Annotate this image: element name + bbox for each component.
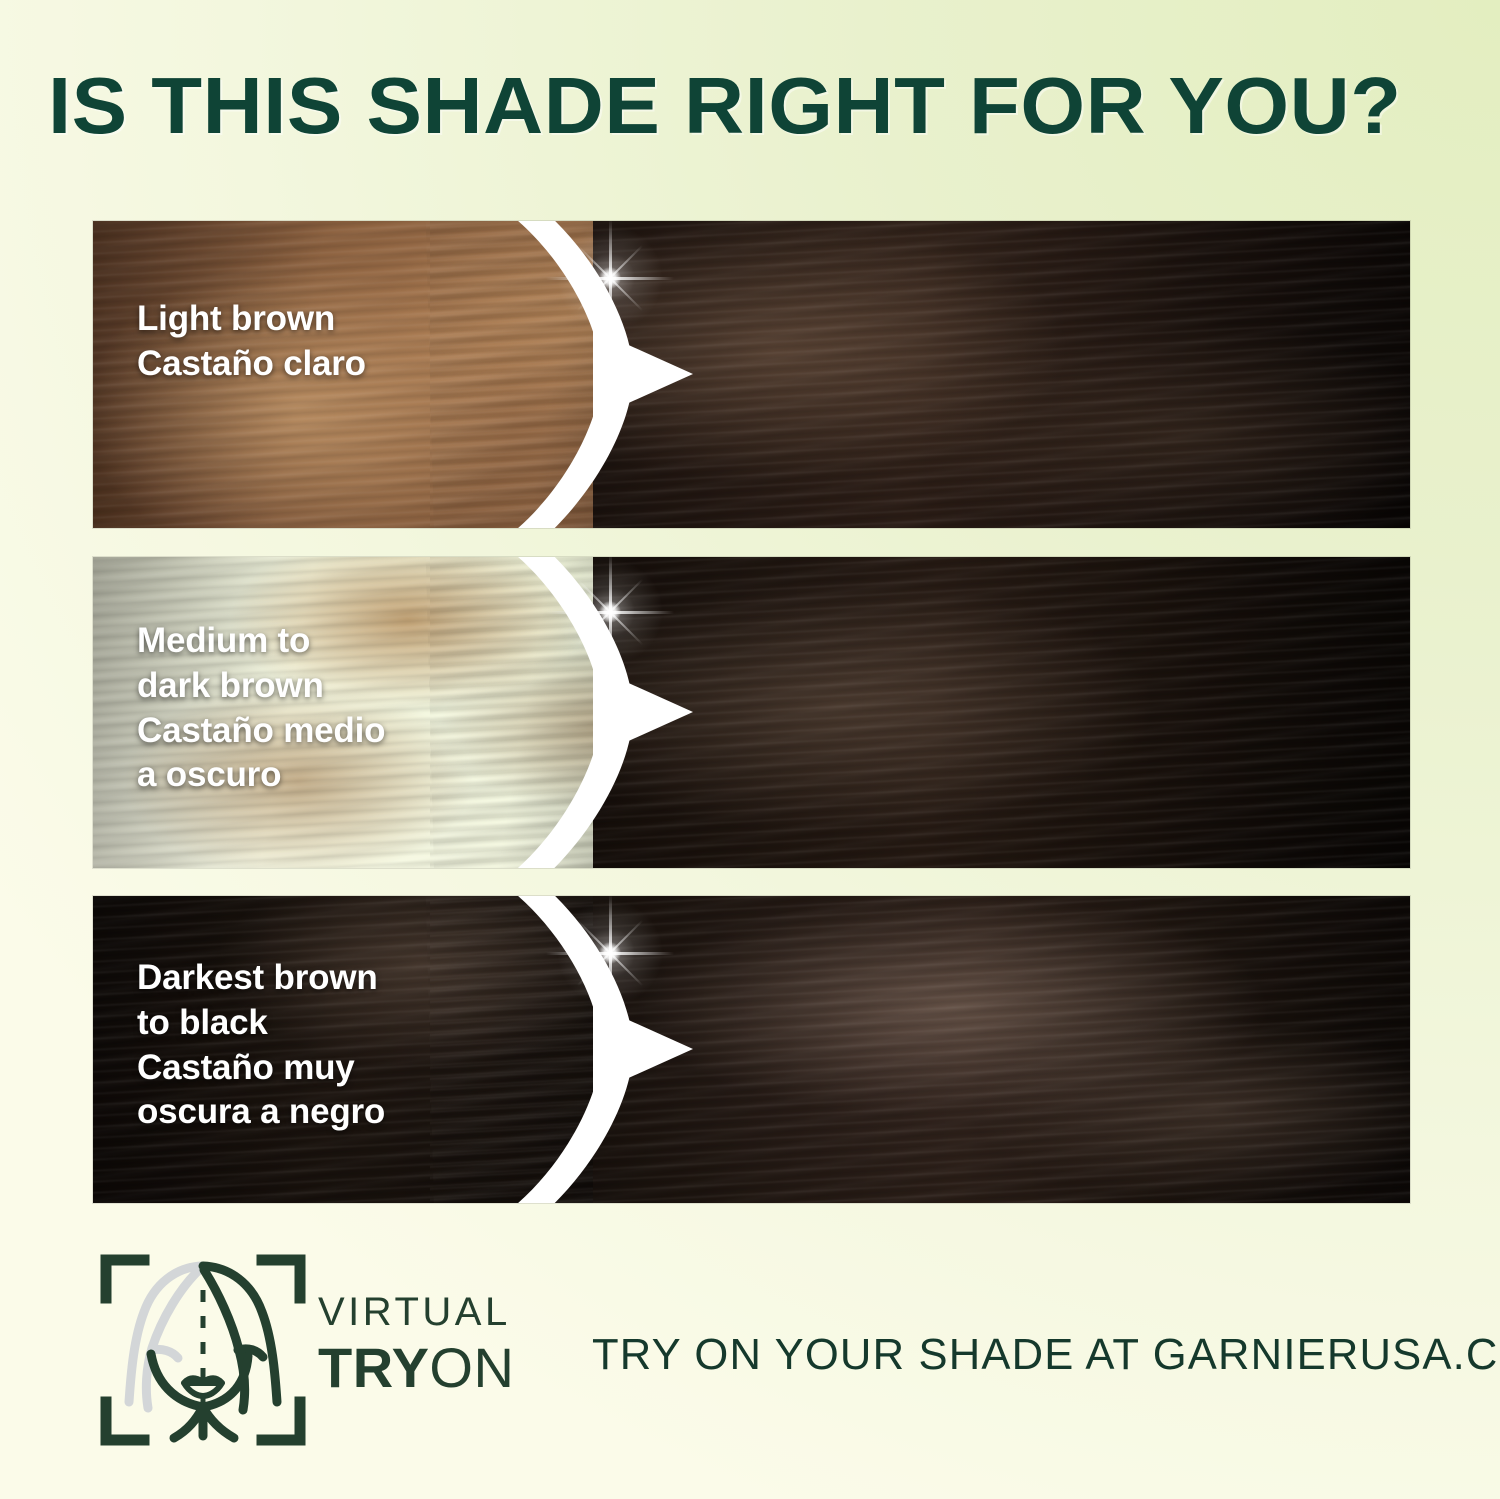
page-title: IS THIS SHADE RIGHT FOR YOU? <box>48 66 1500 146</box>
hair-swatch-result-dark <box>593 221 1410 528</box>
logo-word-try: TRY <box>318 1336 429 1399</box>
logo-line-tryon: TRYON <box>318 1340 514 1396</box>
face-scan-icon <box>96 1250 310 1450</box>
shade-guide-page: IS THIS SHADE RIGHT FOR YOU? <box>0 0 1500 1499</box>
shade-panel-medium-dark-brown: Medium to dark brown Castaño medio a osc… <box>93 557 1410 868</box>
footer: VIRTUAL TRYON TRY ON YOUR SHADE AT GARNI… <box>0 1236 1500 1476</box>
shade-panel-light-brown: Light brown Castaño claro <box>93 221 1410 528</box>
hair-strands-secondary <box>425 557 1410 868</box>
virtual-try-on-logo[interactable]: VIRTUAL TRYON <box>96 1250 556 1450</box>
logo-line-virtual: VIRTUAL <box>318 1292 514 1332</box>
hair-swatch-result-dark <box>593 557 1410 868</box>
hair-strands-secondary <box>425 221 1410 528</box>
hair-strands-secondary <box>425 896 1410 1203</box>
panel-caption: Darkest brown to black Castaño muy oscur… <box>137 956 385 1135</box>
panel-caption: Medium to dark brown Castaño medio a osc… <box>137 619 385 798</box>
panel-caption: Light brown Castaño claro <box>137 297 366 387</box>
logo-word-on: ON <box>429 1336 514 1399</box>
shade-panel-darkest-brown: Darkest brown to black Castaño muy oscur… <box>93 896 1410 1203</box>
virtual-try-on-wordmark: VIRTUAL TRYON <box>318 1292 514 1396</box>
hair-swatch-result-dark <box>593 896 1410 1203</box>
cta-text: TRY ON YOUR SHADE AT GARNIERUSA.COM <box>592 1330 1500 1380</box>
